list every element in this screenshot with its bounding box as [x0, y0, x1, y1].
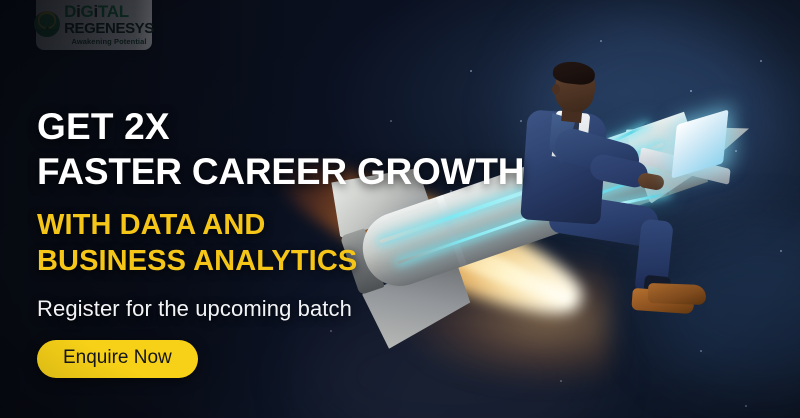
headline-line-1: GET 2X: [37, 104, 507, 149]
logo-line-2: REGENESYS: [64, 21, 154, 36]
brand-logo[interactable]: DiGiTAL REGENESYS Awakening Potential: [36, 0, 152, 50]
promo-banner: DiGiTAL REGENESYS Awakening Potential GE…: [0, 0, 800, 418]
subheadline-block: WITH DATA AND BUSINESS ANALYTICS: [37, 207, 507, 279]
tree-emblem-icon: [34, 11, 60, 37]
logo-tagline: Awakening Potential: [64, 38, 154, 46]
logo-line-1: DiGiTAL: [64, 3, 154, 20]
enquire-now-button[interactable]: Enquire Now: [37, 340, 198, 378]
subheadline-line-2: BUSINESS ANALYTICS: [37, 243, 507, 279]
register-text: Register for the upcoming batch: [37, 296, 507, 322]
subheadline-line-1: WITH DATA AND: [37, 207, 507, 243]
copy-block: GET 2X FASTER CAREER GROWTH WITH DATA AN…: [37, 104, 507, 378]
headline-line-2: FASTER CAREER GROWTH: [37, 149, 507, 194]
